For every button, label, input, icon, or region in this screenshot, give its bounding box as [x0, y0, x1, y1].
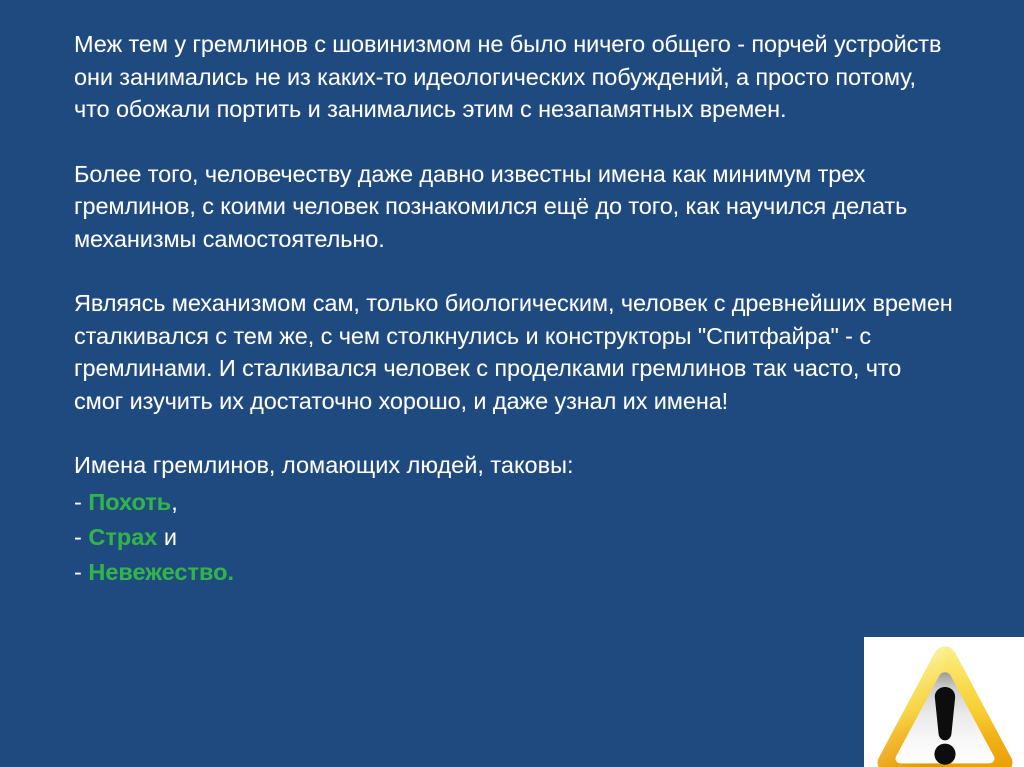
paragraph-2: Более того, человечеству даже давно изве… — [74, 158, 954, 256]
warning-triangle-icon — [871, 641, 1019, 767]
list-item: - Похоть, — [74, 485, 954, 520]
gremlin-name-1: Похоть — [88, 489, 171, 515]
list-bullet-dash: - — [74, 524, 88, 550]
list-bullet-dash: - — [74, 489, 88, 515]
gremlin-names-block: Имена гремлинов, ломающих людей, таковы:… — [74, 449, 954, 590]
paragraph-3: Являясь механизмом сам, только биологиче… — [74, 287, 954, 417]
list-intro-text: Имена гремлинов, ломающих людей, таковы: — [74, 449, 954, 482]
paragraph-1: Меж тем у гремлинов с шовинизмом не было… — [74, 28, 954, 126]
list-bullet-dash: - — [74, 559, 88, 585]
list-item: - Невежество. — [74, 555, 954, 590]
list-item-tail-3: . — [227, 559, 234, 585]
slide-text-content: Меж тем у гремлинов с шовинизмом не было… — [74, 28, 954, 590]
list-item: - Страх и — [74, 520, 954, 555]
gremlin-name-3: Невежество — [88, 559, 227, 585]
slide-canvas: Меж тем у гремлинов с шовинизмом не было… — [0, 0, 1024, 767]
exclamation-dot — [934, 744, 955, 765]
warning-image-frame — [864, 637, 1024, 767]
list-item-tail-1: , — [171, 489, 178, 515]
list-item-tail-2: и — [157, 524, 177, 550]
gremlin-name-2: Страх — [88, 524, 157, 550]
